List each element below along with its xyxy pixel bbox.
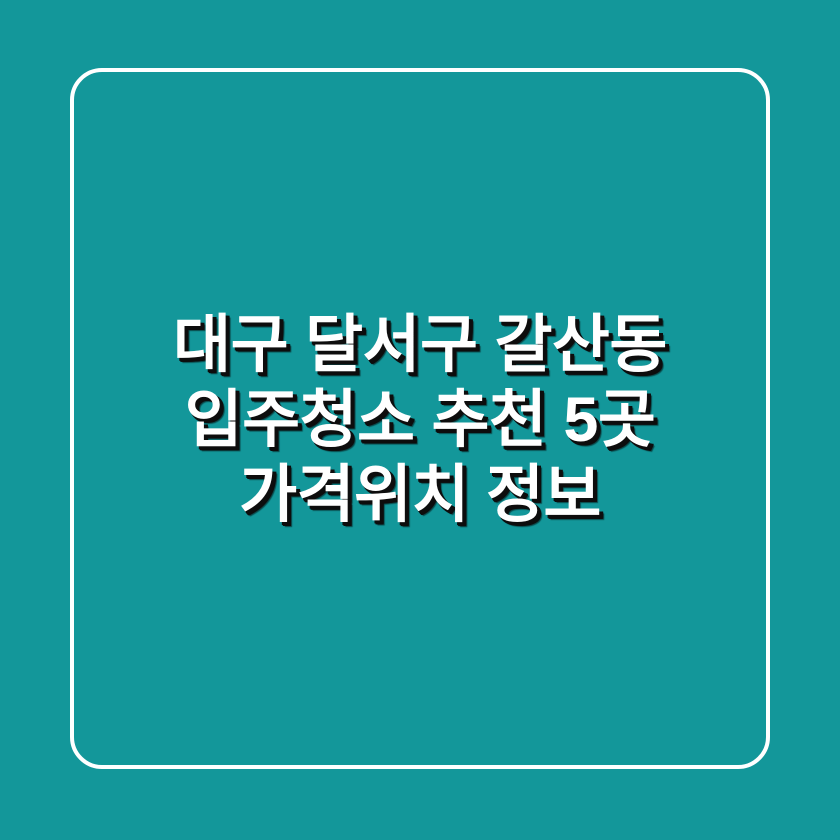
headline-line-1: 대구 달서구 갈산동 <box>0 308 840 383</box>
headline-line-3: 가격위치 정보 <box>0 458 840 533</box>
thumbnail-card: 대구 달서구 갈산동 입주청소 추천 5곳 가격위치 정보 <box>0 0 840 840</box>
headline-line-2: 입주청소 추천 5곳 <box>0 383 840 458</box>
headline-block: 대구 달서구 갈산동 입주청소 추천 5곳 가격위치 정보 <box>0 0 840 840</box>
